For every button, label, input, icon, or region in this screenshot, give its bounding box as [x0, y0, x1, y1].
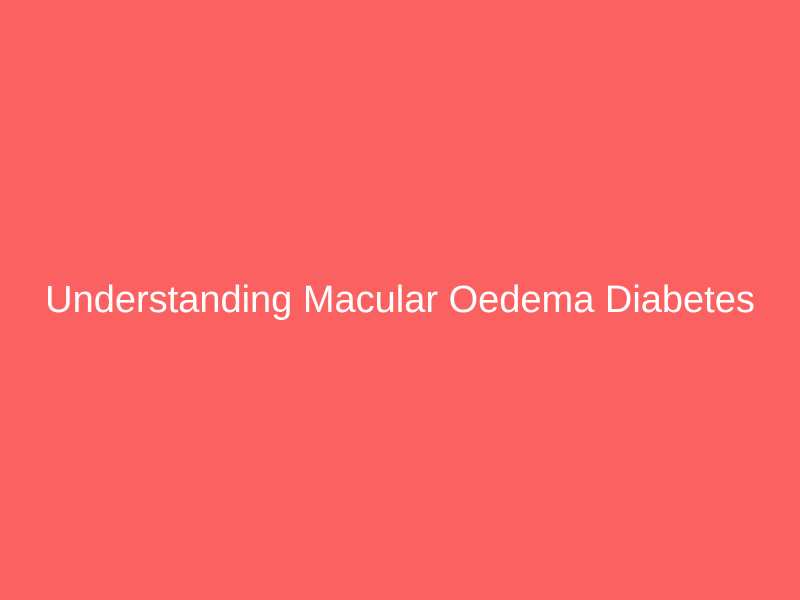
placeholder-card: Understanding Macular Oedema Diabetes	[0, 0, 800, 600]
page-title: Understanding Macular Oedema Diabetes	[45, 278, 755, 323]
